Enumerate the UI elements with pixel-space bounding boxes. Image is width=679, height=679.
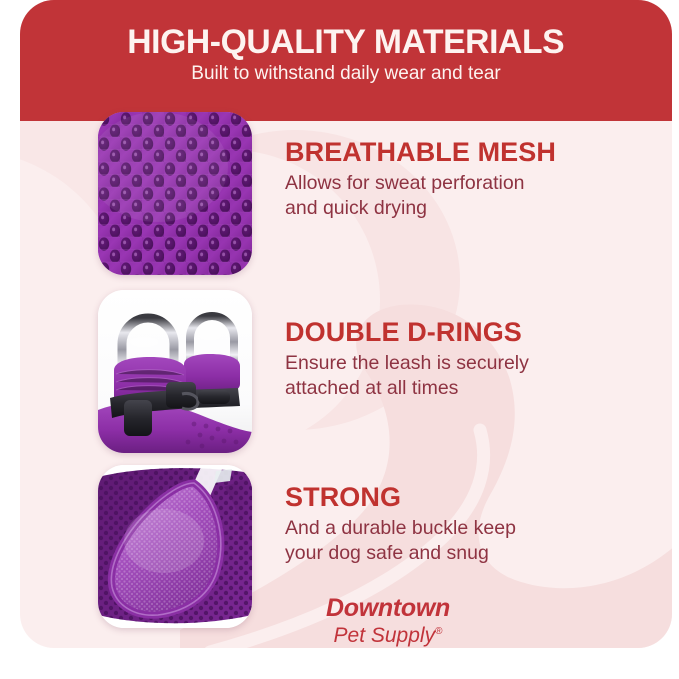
brand-name-secondary: Pet Supply® <box>268 625 508 646</box>
feature-list: BREATHABLE MESH Allows for sweat perfora… <box>0 0 679 679</box>
feature-row: BREATHABLE MESH Allows for sweat perfora… <box>98 112 615 275</box>
feature-description: Allows for sweat perforation and quick d… <box>285 171 615 221</box>
brand-logo: Downtown Pet Supply® <box>268 596 508 646</box>
feature-row: DOUBLE D-RINGS Ensure the leash is secur… <box>98 290 615 453</box>
feature-image-breathable-mesh <box>98 112 252 275</box>
feature-title: STRONG <box>285 483 615 511</box>
feature-text-block: BREATHABLE MESH Allows for sweat perfora… <box>285 112 615 221</box>
feature-text-block: STRONG And a durable buckle keep your do… <box>285 465 615 566</box>
feature-description: Ensure the leash is securely attached at… <box>285 351 615 401</box>
feature-text-block: DOUBLE D-RINGS Ensure the leash is secur… <box>285 290 615 401</box>
feature-description: And a durable buckle keep your dog safe … <box>285 516 615 566</box>
registered-trademark-icon: ® <box>435 626 442 637</box>
feature-image-harness-panel <box>98 465 252 628</box>
feature-title: BREATHABLE MESH <box>285 138 615 166</box>
product-infographic: HIGH-QUALITY MATERIALS Built to withstan… <box>0 0 679 679</box>
feature-image-double-d-rings <box>98 290 252 453</box>
brand-name-secondary-text: Pet Supply <box>334 624 436 647</box>
brand-name-primary: Downtown <box>268 596 508 621</box>
feature-title: DOUBLE D-RINGS <box>285 318 615 346</box>
